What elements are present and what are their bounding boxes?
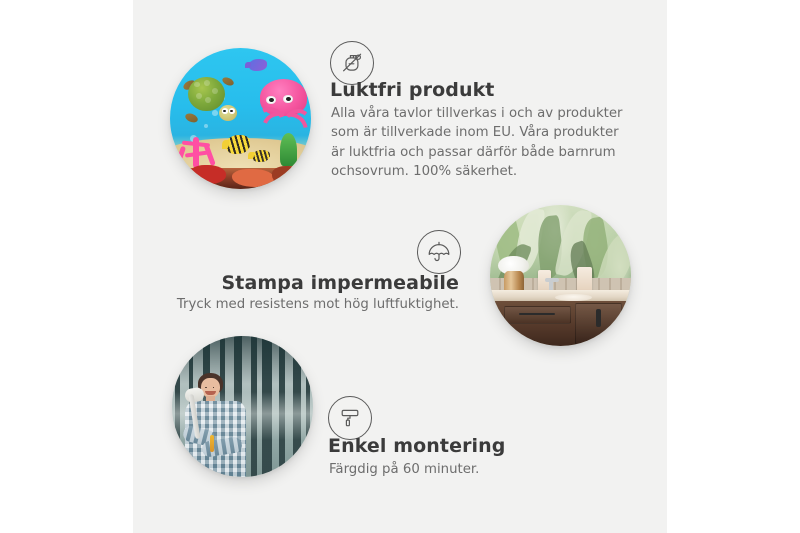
sea-turtle-icon — [184, 75, 235, 123]
paint-brush-icon — [210, 435, 214, 452]
umbrella-icon — [417, 230, 461, 274]
sink-basin — [555, 294, 592, 301]
fish-icon — [226, 135, 250, 153]
fish-icon — [249, 59, 267, 70]
feature-body-easy-mounting: Färgdig på 60 minuter. — [329, 462, 479, 477]
coral-icon — [174, 130, 222, 169]
seaweed-icon — [280, 133, 297, 167]
fish-icon — [252, 150, 270, 163]
feature-title-waterproof: Stampa impermeabile — [133, 272, 459, 294]
feature-title-odourless: Luktfri produkt — [330, 79, 494, 101]
painter-woman — [180, 373, 253, 477]
sea-foreground-rocks — [170, 168, 311, 189]
feature-block-easy-mounting: Enkel montering Färgdig på 60 minuter. — [133, 336, 667, 533]
paint-roller-icon — [328, 396, 372, 440]
feature-block-odourless: Luktfri produkt Alla våra tavlor tillver… — [133, 0, 667, 200]
thumbnail-painter-forest[interactable] — [172, 336, 313, 477]
screenshot-canvas: Luktfri produkt Alla våra tavlor tillver… — [0, 0, 800, 533]
feature-title-easy-mounting: Enkel montering — [328, 435, 506, 457]
thumbnail-image-sea — [170, 48, 311, 189]
thumbnail-bathroom-botanical[interactable] — [490, 205, 631, 346]
thumbnail-image-bathroom — [490, 205, 631, 346]
thumbnail-underwater-sea-life[interactable] — [170, 48, 311, 189]
feature-panel: Luktfri produkt Alla våra tavlor tillver… — [133, 0, 667, 533]
feature-body-waterproof: Tryck med resistens mot hög luftfuktighe… — [133, 297, 459, 312]
feature-block-waterproof: Stampa impermeabile Tryck med resistens … — [133, 196, 667, 356]
octopus-icon — [252, 79, 308, 138]
feature-body-odourless: Alla våra tavlor tillverkas i och av pro… — [331, 104, 623, 182]
thumbnail-image-forest — [172, 336, 313, 477]
